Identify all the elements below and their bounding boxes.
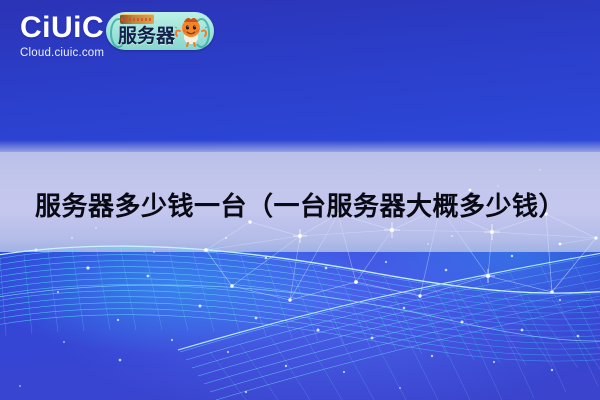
page-title: 服务器多少钱一台（一台服务器大概多少钱） — [0, 186, 600, 223]
badge-label: 服务器 — [118, 21, 175, 48]
logo-domain-text: Cloud.ciuic.com — [20, 48, 104, 60]
server-category-badge[interactable]: 服务器 — [106, 12, 214, 50]
site-logo[interactable]: CiUiC Cloud.ciuic.com — [20, 13, 104, 60]
orange-mascot-icon — [174, 15, 208, 47]
header-bar: CiUiC Cloud.ciuic.com 服务器 — [0, 0, 600, 72]
banner-image: CiUiC Cloud.ciuic.com 服务器 — [0, 0, 600, 400]
logo-wordmark: CiUiC — [20, 13, 104, 43]
